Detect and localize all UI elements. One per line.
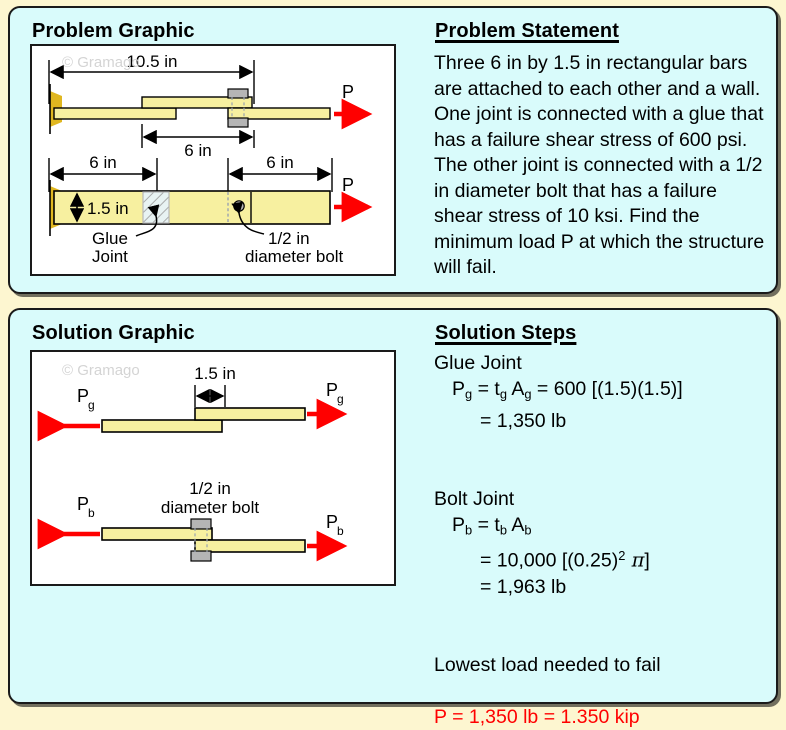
problem-statement-heading: Problem Statement <box>435 20 619 43</box>
svg-text:1.5 in: 1.5 in <box>194 364 236 383</box>
step-bolt-equation-3: = 1,963 lb <box>434 574 774 600</box>
solution-graphic-frame: © Gramago 1.5 in <box>30 350 396 586</box>
step-glue-title: Glue Joint <box>434 350 774 376</box>
bolt-eq1-sub-b2: b <box>500 522 507 537</box>
watermark-problem: © Gramago <box>62 54 140 71</box>
step-glue-equation-1: Pg = tg Ag = 600 [(1.5)(1.5)] <box>434 376 774 408</box>
step-spacer-5 <box>434 678 774 704</box>
bolt-eq1-mid2: A <box>507 514 524 536</box>
svg-text:Joint: Joint <box>92 247 128 266</box>
solution-steps-heading: Solution Steps <box>435 322 576 345</box>
step-spacer-2 <box>434 460 774 486</box>
svg-text:diameter bolt: diameter bolt <box>161 498 260 517</box>
solution-diagram: 1.5 in P g P g 1/2 in diameter bolt <box>32 352 394 584</box>
svg-text:6 in: 6 in <box>266 153 293 172</box>
svg-text:b: b <box>88 506 95 520</box>
solution-steps-list: Glue Joint Pg = tg Ag = 600 [(1.5)(1.5)]… <box>434 350 774 730</box>
bolt-eq1-mid: = t <box>472 514 500 536</box>
svg-text:P: P <box>342 175 354 195</box>
bolt-eq2-tail: ] <box>644 550 649 572</box>
bolt-eq1-p: P <box>452 514 465 536</box>
problem-diagram: 10.5 in P <box>32 46 394 274</box>
step-spacer-1 <box>434 434 774 460</box>
solution-panel: Solution Graphic Solution Steps © Gramag… <box>8 308 778 704</box>
final-answer: P = 1,350 lb = 1.350 kip <box>434 704 774 730</box>
slide-page: Problem Graphic Problem Statement © Gram… <box>0 0 786 712</box>
step-bolt-equation-2: = 10,000 [(0.25)2 π] <box>434 543 774 573</box>
svg-text:diameter bolt: diameter bolt <box>245 247 344 266</box>
step-bolt-title: Bolt Joint <box>434 486 774 512</box>
svg-text:1/2 in: 1/2 in <box>189 479 231 498</box>
bolt-eq2-prefix: = 10,000 [(0.25) <box>480 550 618 572</box>
svg-text:1.5 in: 1.5 in <box>87 199 129 218</box>
problem-statement-text: Three 6 in by 1.5 in rectangular bars ar… <box>434 51 770 281</box>
problem-graphic-heading: Problem Graphic <box>32 20 195 43</box>
svg-text:g: g <box>337 392 344 406</box>
step-glue-equation-2: = 1,350 lb <box>434 408 774 434</box>
svg-text:Glue: Glue <box>92 229 128 248</box>
svg-text:6 in: 6 in <box>184 141 211 160</box>
glue-eq1-tail: = 600 [(1.5)(1.5)] <box>532 378 683 400</box>
step-lowest-load-note: Lowest load needed to fail <box>434 652 774 678</box>
step-bolt-equation-1: Pb = tb Ab <box>434 512 774 544</box>
step-spacer-3 <box>434 600 774 626</box>
solution-graphic-heading: Solution Graphic <box>32 322 195 345</box>
svg-text:g: g <box>88 398 95 412</box>
glue-eq1-mid2: A <box>507 378 524 400</box>
svg-text:1/2 in: 1/2 in <box>268 229 310 248</box>
problem-graphic-frame: © Gramago <box>30 44 396 276</box>
glue-eq1-p: P <box>452 378 465 400</box>
step-spacer-4 <box>434 626 774 652</box>
svg-text:b: b <box>337 524 344 538</box>
glue-eq1-mid: = t <box>472 378 500 400</box>
glue-eq1-sub-g3: g <box>524 387 531 402</box>
problem-panel: Problem Graphic Problem Statement © Gram… <box>8 6 778 294</box>
glue-eq1-sub-g2: g <box>500 387 507 402</box>
svg-text:P: P <box>342 82 354 102</box>
watermark-solution: © Gramago <box>62 362 140 379</box>
bolt-eq1-sub-b3: b <box>524 522 531 537</box>
pi-symbol: π <box>625 549 644 572</box>
svg-text:6 in: 6 in <box>89 153 116 172</box>
